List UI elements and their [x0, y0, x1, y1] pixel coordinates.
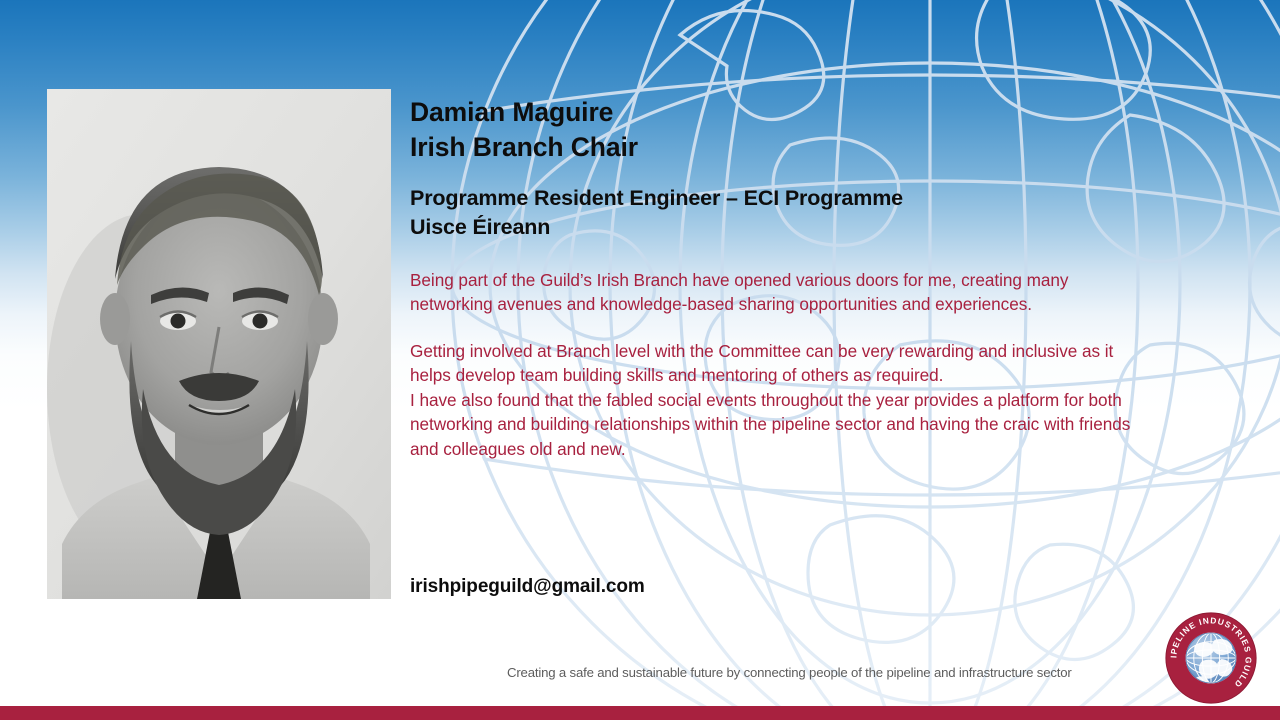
- contact-email[interactable]: irishpipeguild@gmail.com: [410, 576, 645, 598]
- testimonial-quote: Being part of the Guild’s Irish Branch h…: [410, 268, 1150, 462]
- person-name: Damian Maguire: [410, 95, 1150, 130]
- quote-paragraph-2: Getting involved at Branch level with th…: [410, 339, 1150, 388]
- pipeline-industries-guild-logo-icon: THE PIPELINE INDUSTRIES GUILD: [1163, 610, 1259, 706]
- footer-accent-bar: [0, 706, 1280, 720]
- quote-paragraph-3: I have also found that the fabled social…: [410, 388, 1150, 462]
- portrait-photo: [47, 89, 391, 599]
- slide-canvas: Damian Maguire Irish Branch Chair Progra…: [0, 0, 1280, 720]
- person-job-block: Programme Resident Engineer – ECI Progra…: [410, 184, 1150, 241]
- person-name-block: Damian Maguire Irish Branch Chair: [410, 95, 1150, 164]
- person-organisation: Uisce Éireann: [410, 213, 1150, 242]
- person-job-title: Programme Resident Engineer – ECI Progra…: [410, 184, 1150, 213]
- person-role-title: Irish Branch Chair: [410, 130, 1150, 165]
- quote-paragraph-1: Being part of the Guild’s Irish Branch h…: [410, 268, 1150, 317]
- text-content: Damian Maguire Irish Branch Chair Progra…: [410, 95, 1150, 461]
- footer-tagline: Creating a safe and sustainable future b…: [507, 665, 1167, 680]
